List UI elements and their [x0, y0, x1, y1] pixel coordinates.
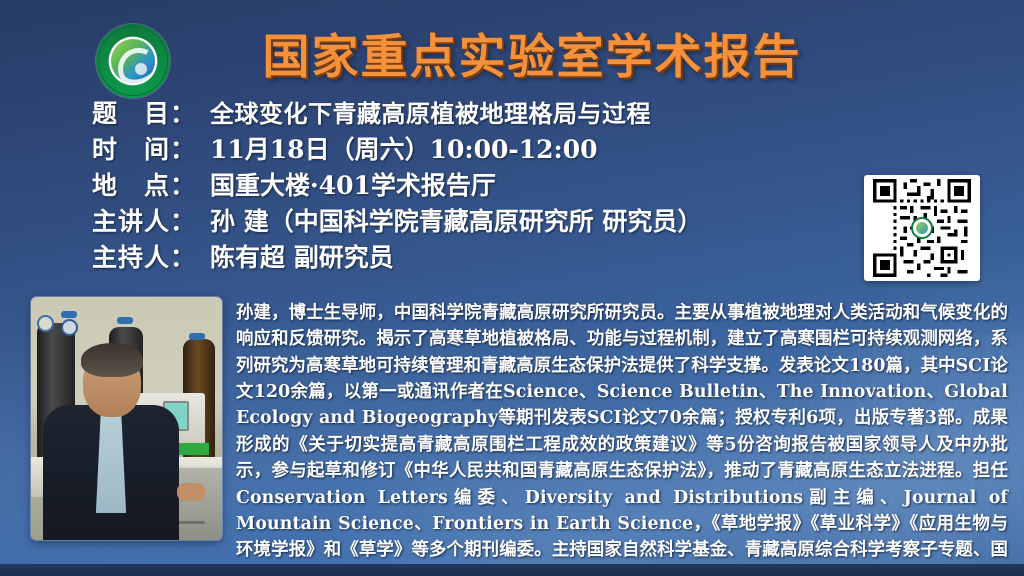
seal-swirl-icon: [112, 42, 155, 83]
valve-icon: [189, 333, 205, 340]
detail-row-time: 时 间： 11月18日（周六）10:00-12:00: [92, 134, 852, 166]
value-venue: 国重大楼·401学术报告厅: [210, 170, 496, 202]
label-venue: 地 点：: [92, 170, 210, 202]
poster-header: 国家重点实验室学术报告: [0, 8, 1024, 96]
portrait-hair: [81, 343, 143, 377]
academic-lecture-poster: 国家重点实验室学术报告 题 目： 全球变化下青藏高原植被地理格局与过程 时 间：…: [0, 0, 1024, 576]
label-topic: 题 目：: [92, 98, 210, 130]
portrait-hand: [177, 483, 205, 501]
page-title: 国家重点实验室学术报告: [263, 18, 802, 87]
detail-row-host: 主持人： 陈有超 副研究员: [92, 242, 852, 274]
label-time: 时 间：: [92, 134, 210, 166]
value-speaker: 孙 建（中国科学院青藏高原研究所 研究员）: [210, 206, 702, 238]
institute-seal-icon: [96, 24, 170, 98]
qr-center-logo-icon: [911, 217, 933, 239]
valve-icon: [117, 317, 133, 324]
detail-row-venue: 地 点： 国重大楼·401学术报告厅: [92, 170, 852, 202]
detail-row-speaker: 主讲人： 孙 建（中国科学院青藏高原研究所 研究员）: [92, 206, 852, 238]
value-host: 陈有超 副研究员: [210, 242, 394, 274]
value-topic: 全球变化下青藏高原植被地理格局与过程: [210, 99, 651, 130]
speaker-portrait: [31, 297, 222, 540]
qr-code-icon[interactable]: [864, 175, 980, 281]
value-time: 11月18日（周六）10:00-12:00: [210, 134, 598, 166]
pressure-gauge-icon: [37, 315, 54, 332]
detail-row-topic: 题 目： 全球变化下青藏高原植被地理格局与过程: [92, 98, 852, 130]
speaker-biography: 孙建，博士生导师，中国科学院青藏高原研究所研究员。主要从事植被地理对人类活动和气…: [236, 300, 1008, 576]
label-speaker: 主讲人：: [92, 206, 210, 238]
seal-dot-icon: [135, 63, 147, 75]
label-host: 主持人：: [92, 242, 210, 274]
valve-icon: [61, 311, 77, 318]
pressure-gauge-icon: [61, 319, 78, 336]
bottom-strip: [0, 564, 1024, 576]
seal-emblem: [111, 39, 155, 83]
event-details: 题 目： 全球变化下青藏高原植被地理格局与过程 时 间： 11月18日（周六）1…: [92, 98, 852, 278]
